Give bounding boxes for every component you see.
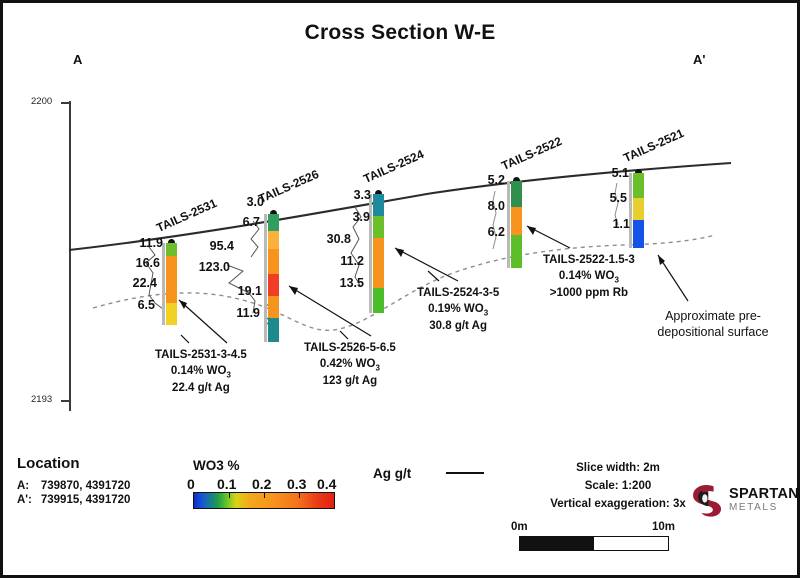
drill-hole-interval[interactable]	[268, 249, 279, 274]
scale-bar-graphic	[519, 536, 669, 551]
drill-hole-interval[interactable]	[166, 243, 177, 256]
ag-value-label: 5.5	[579, 191, 627, 205]
location-legend: Location A: 739870, 4391720 A': 739915, …	[17, 455, 134, 507]
ag-value-label: 95.4	[186, 239, 234, 253]
ag-value-label: 1.1	[582, 217, 630, 231]
tails-2526-callout: TAILS-2526-5-6.50.42% WO3123 g/t Ag	[304, 341, 396, 389]
ag-value-label: 19.1	[214, 284, 262, 298]
drill-hole-interval[interactable]	[511, 235, 522, 268]
wo3-tick-label: 0.1	[217, 476, 236, 492]
ag-value-label: 6.2	[457, 225, 505, 239]
ag-value-label: 5.1	[581, 166, 629, 180]
scale-bar: 0m 10m	[519, 521, 669, 551]
location-value-a: 739870, 4391720	[41, 479, 135, 493]
drill-hole-interval[interactable]	[633, 173, 644, 198]
ag-value-label: 11.2	[316, 254, 364, 268]
scale-bar-min-label: 0m	[511, 521, 528, 533]
ag-value-label: 6.5	[107, 298, 155, 312]
callout-sample-id: TAILS-2522-1.5-3	[543, 253, 635, 269]
wo3-tick-label: 0	[187, 476, 195, 492]
drill-hole-interval[interactable]	[373, 238, 384, 288]
callout-sample-id: TAILS-2526-5-6.5	[304, 341, 396, 357]
ag-legend-label: Ag g/t	[373, 466, 411, 481]
wo3-tick-label: 0.4	[317, 476, 336, 492]
ag-value-label: 6.7	[212, 215, 260, 229]
logo-brand: SPARTAN	[729, 487, 799, 502]
drill-hole-interval[interactable]	[268, 214, 279, 231]
drill-hole-track	[507, 181, 510, 268]
spartan-shield-icon	[687, 481, 725, 519]
callout-sample-id: TAILS-2524-3-5	[417, 286, 499, 302]
location-table: A: 739870, 4391720 A': 739915, 4391720	[17, 479, 134, 507]
drill-hole-interval[interactable]	[166, 256, 177, 303]
logo-sub: METALS	[729, 503, 799, 513]
ag-value-label: 30.8	[303, 232, 351, 246]
drill-hole-interval[interactable]	[373, 194, 384, 216]
pre-depositional-surface-label-line1: Approximate pre-	[633, 308, 793, 324]
ag-value-label: 3.3	[323, 188, 371, 202]
ag-value-label: 3.0	[216, 195, 264, 209]
ag-value-label: 16.6	[112, 256, 160, 270]
ag-value-label: 123.0	[182, 260, 230, 274]
location-title: Location	[17, 455, 134, 472]
wo3-colorbar-legend: WO3 % 00.10.20.30.4	[193, 458, 335, 509]
scale-bar-segment-empty	[594, 537, 668, 550]
callout-grade-wo3: 0.19% WO3	[417, 302, 499, 319]
scale-bar-segment-filled	[520, 537, 594, 550]
pre-depositional-surface-label: Approximate pre- depositional surface	[633, 308, 793, 341]
drill-hole-interval[interactable]	[373, 288, 384, 313]
callout-grade-wo3: 0.14% WO3	[155, 364, 247, 381]
ag-value-label: 5.2	[457, 173, 505, 187]
pre-depositional-surface-label-line2: depositional surface	[633, 324, 793, 340]
drill-hole-interval[interactable]	[268, 296, 279, 318]
ag-value-label: 8.0	[457, 199, 505, 213]
drill-hole-track	[629, 173, 632, 248]
location-row-a: A: 739870, 4391720	[17, 479, 134, 493]
wo3-tick-label: 0.2	[252, 476, 271, 492]
drill-hole-interval[interactable]	[166, 303, 177, 325]
location-value-a-prime: 739915, 4391720	[41, 493, 135, 507]
drill-hole-interval[interactable]	[268, 231, 279, 249]
wo3-tick-label: 0.3	[287, 476, 306, 492]
callout-grade-secondary: >1000 ppm Rb	[543, 286, 635, 302]
tails-2522-callout: TAILS-2522-1.5-30.14% WO3>1000 ppm Rb	[543, 253, 635, 301]
spartan-metals-logo: SPARTAN METALS	[687, 481, 799, 519]
tails-2531-callout: TAILS-2531-3-4.50.14% WO322.4 g/t Ag	[155, 348, 247, 396]
callout-grade-secondary: 22.4 g/t Ag	[155, 381, 247, 397]
ag-value-label: 3.9	[322, 210, 370, 224]
ag-value-label: 13.5	[316, 276, 364, 290]
wo3-tick-labels: 00.10.20.30.4	[191, 476, 331, 492]
tails-2524-callout: TAILS-2524-3-50.19% WO330.8 g/t Ag	[417, 286, 499, 334]
drill-hole-interval[interactable]	[633, 198, 644, 220]
scale-bar-max-label: 10m	[652, 521, 675, 533]
drill-hole-track	[264, 214, 267, 342]
scale-bar-labels: 0m 10m	[519, 521, 669, 536]
callout-sample-id: TAILS-2531-3-4.5	[155, 348, 247, 364]
drill-hole-interval[interactable]	[511, 181, 522, 207]
callout-grade-secondary: 123 g/t Ag	[304, 374, 396, 390]
drill-hole-interval[interactable]	[633, 220, 644, 248]
ag-value-label: 11.9	[212, 306, 260, 320]
callout-grade-wo3: 0.42% WO3	[304, 357, 396, 374]
ag-value-label: 11.9	[115, 236, 163, 250]
drill-hole-track	[162, 243, 165, 325]
cross-section-figure: Cross Section W-E A A' 2200 2193	[0, 0, 800, 578]
callout-grade-secondary: 30.8 g/t Ag	[417, 319, 499, 335]
ag-legend-line-swatch	[446, 472, 484, 474]
drill-hole-interval[interactable]	[268, 318, 279, 342]
location-key-a-prime: A':	[17, 493, 41, 507]
callout-grade-wo3: 0.14% WO3	[543, 269, 635, 286]
ag-legend: Ag g/t	[373, 465, 484, 483]
drill-hole-interval[interactable]	[511, 207, 522, 235]
ag-value-label: 22.4	[109, 276, 157, 290]
drill-hole-interval[interactable]	[268, 274, 279, 296]
location-row-a-prime: A': 739915, 4391720	[17, 493, 134, 507]
location-key-a: A:	[17, 479, 41, 493]
wo3-colorbar	[193, 492, 335, 509]
drill-hole-interval[interactable]	[373, 216, 384, 238]
wo3-legend-label: WO3 %	[193, 458, 335, 473]
logo-text: SPARTAN METALS	[729, 487, 799, 514]
slice-width-text: Slice width: 2m	[503, 460, 733, 478]
